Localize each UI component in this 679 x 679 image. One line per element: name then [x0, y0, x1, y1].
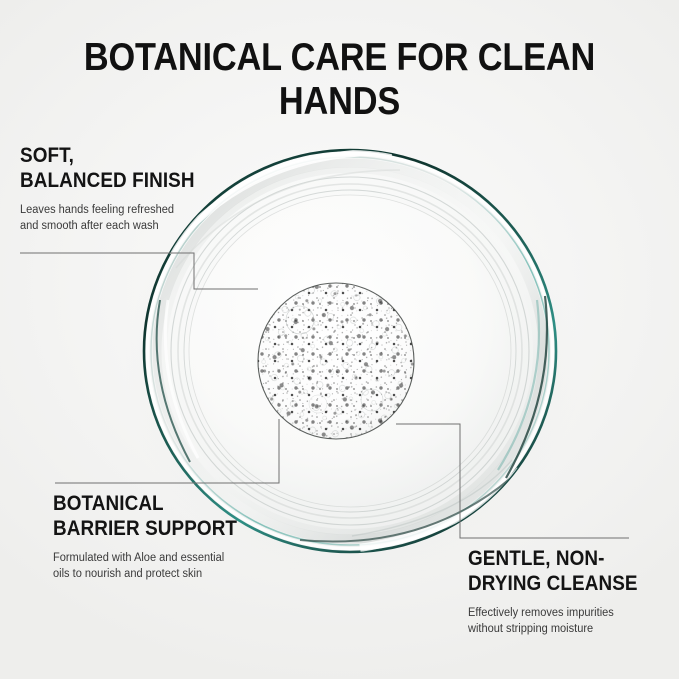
callout-body: Effectively removes impurities without s…	[468, 605, 674, 637]
page-title: BOTANICAL CARE FOR CLEAN HANDS	[41, 36, 639, 124]
callout-body: Leaves hands feeling refreshed and smoot…	[20, 202, 241, 234]
callout-gentle-non-drying-cleanse: GENTLE, NON- DRYING CLEANSE Effectively …	[468, 546, 679, 637]
leader-line-gentle-non-drying-cleanse	[396, 424, 629, 538]
callout-botanical-barrier-support: BOTANICAL BARRIER SUPPORT Formulated wit…	[53, 491, 303, 582]
infographic-poster: BOTANICAL CARE FOR CLEAN HANDS SOFT, BAL…	[0, 0, 679, 679]
callout-soft-balanced-finish: SOFT, BALANCED FINISH Leaves hands feeli…	[20, 143, 250, 234]
callout-title: GENTLE, NON- DRYING CLEANSE	[468, 546, 662, 596]
callout-title: SOFT, BALANCED FINISH	[20, 143, 227, 193]
leader-line-botanical-barrier-support	[55, 419, 279, 483]
leader-line-soft-balanced-finish	[20, 253, 258, 289]
callout-title: BOTANICAL BARRIER SUPPORT	[53, 491, 278, 541]
callout-body: Formulated with Aloe and essential oils …	[53, 550, 293, 582]
